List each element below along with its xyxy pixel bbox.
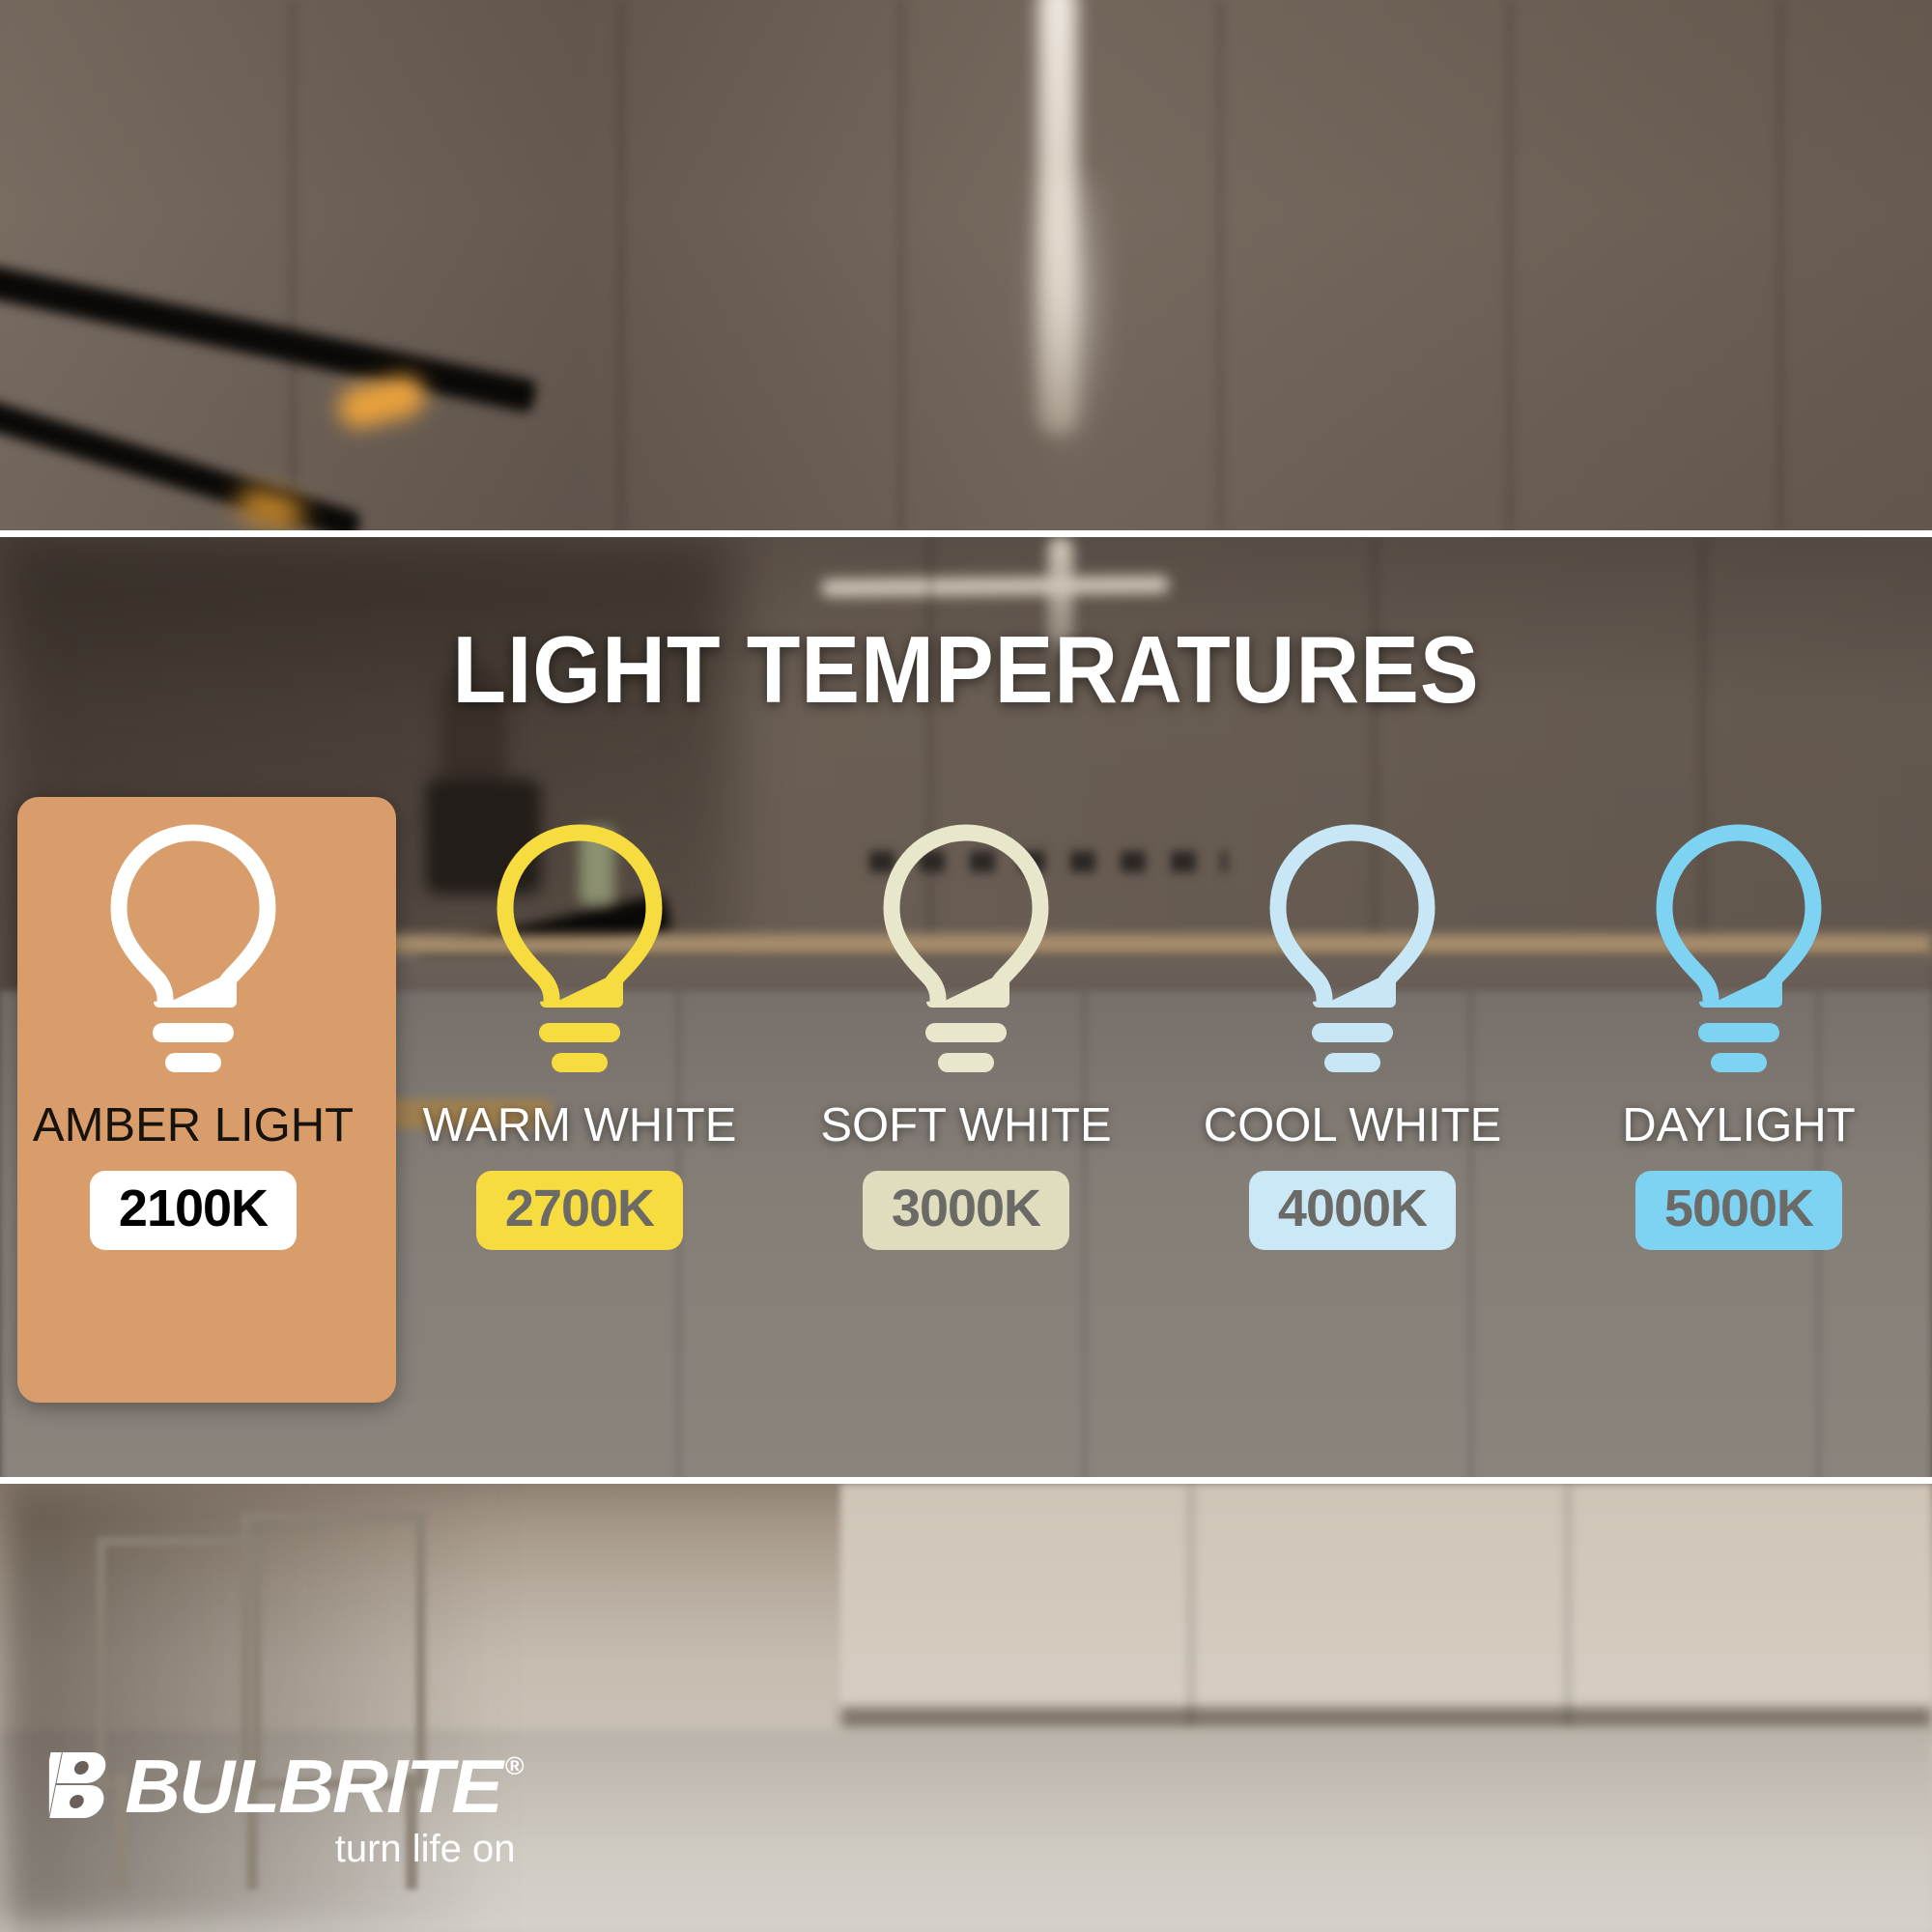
registered-trademark-mark: ® <box>505 1754 523 1778</box>
temperature-item-cool-white[interactable]: COOL WHITE 4000K <box>1159 797 1546 1406</box>
light-bulb-icon <box>874 821 1058 1087</box>
temperature-item-soft-white[interactable]: SOFT WHITE 3000K <box>773 797 1159 1406</box>
light-bulb-icon <box>1261 821 1444 1087</box>
light-bulb-icon <box>1647 821 1831 1087</box>
temperature-item-amber-light[interactable]: AMBER LIGHT 2100K <box>0 797 386 1406</box>
kelvin-badge: 3000K <box>863 1171 1069 1250</box>
temperature-item-daylight[interactable]: DAYLIGHT 5000K <box>1546 797 1932 1406</box>
page-title: LIGHT TEMPERATURES <box>68 622 1864 717</box>
light-bulb-icon <box>488 821 671 1087</box>
brand-logo: BULBRITE ® turn life on <box>56 1750 515 1868</box>
kelvin-badge: 5000K <box>1635 1171 1842 1250</box>
temperature-list: AMBER LIGHT 2100K WARM WHITE 2700K <box>0 797 1932 1406</box>
brand-tagline: turn life on <box>56 1830 515 1868</box>
temperature-label: WARM WHITE <box>423 1102 737 1150</box>
temperature-label: COOL WHITE <box>1204 1102 1502 1150</box>
bulbrite-b-mark-icon <box>49 1750 123 1822</box>
kelvin-badge: 4000K <box>1249 1171 1456 1250</box>
light-bulb-icon <box>101 821 285 1087</box>
temperature-label: SOFT WHITE <box>820 1102 1111 1150</box>
temperature-label: AMBER LIGHT <box>33 1102 354 1150</box>
temperature-label: DAYLIGHT <box>1622 1102 1855 1150</box>
temperature-item-warm-white[interactable]: WARM WHITE 2700K <box>386 797 773 1406</box>
kelvin-badge: 2100K <box>90 1171 297 1250</box>
kelvin-badge: 2700K <box>476 1171 683 1250</box>
brand-name: BULBRITE <box>125 1750 501 1822</box>
